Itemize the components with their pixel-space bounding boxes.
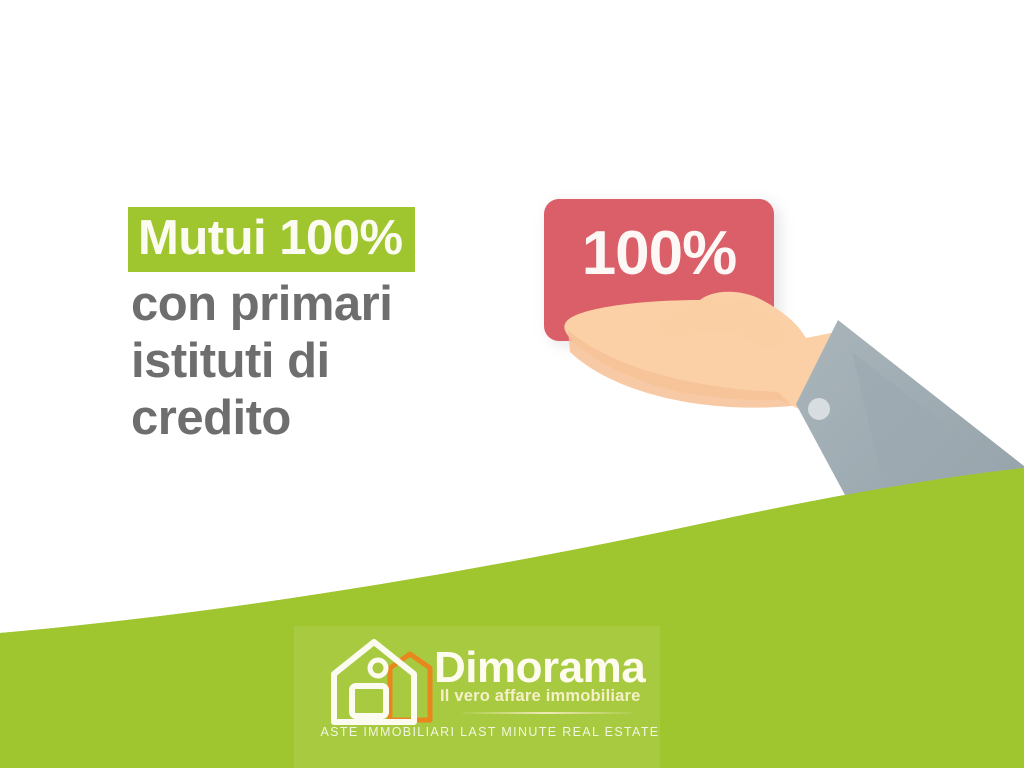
logo-divider	[462, 712, 632, 714]
logo-tagline: Il vero affare immobiliare	[440, 688, 641, 705]
promo-banner: Mutui 100% con primari istituti di credi…	[0, 0, 1024, 768]
logo-brand-name: Dimorama	[434, 646, 645, 690]
house-logo-icon	[328, 634, 448, 730]
cuff-button	[808, 398, 830, 420]
brand-logo[interactable]: Dimorama Il vero affare immobiliare ASTE…	[294, 626, 660, 768]
logo-subtitle: ASTE IMMOBILIARI LAST MINUTE REAL ESTATE	[320, 726, 660, 739]
